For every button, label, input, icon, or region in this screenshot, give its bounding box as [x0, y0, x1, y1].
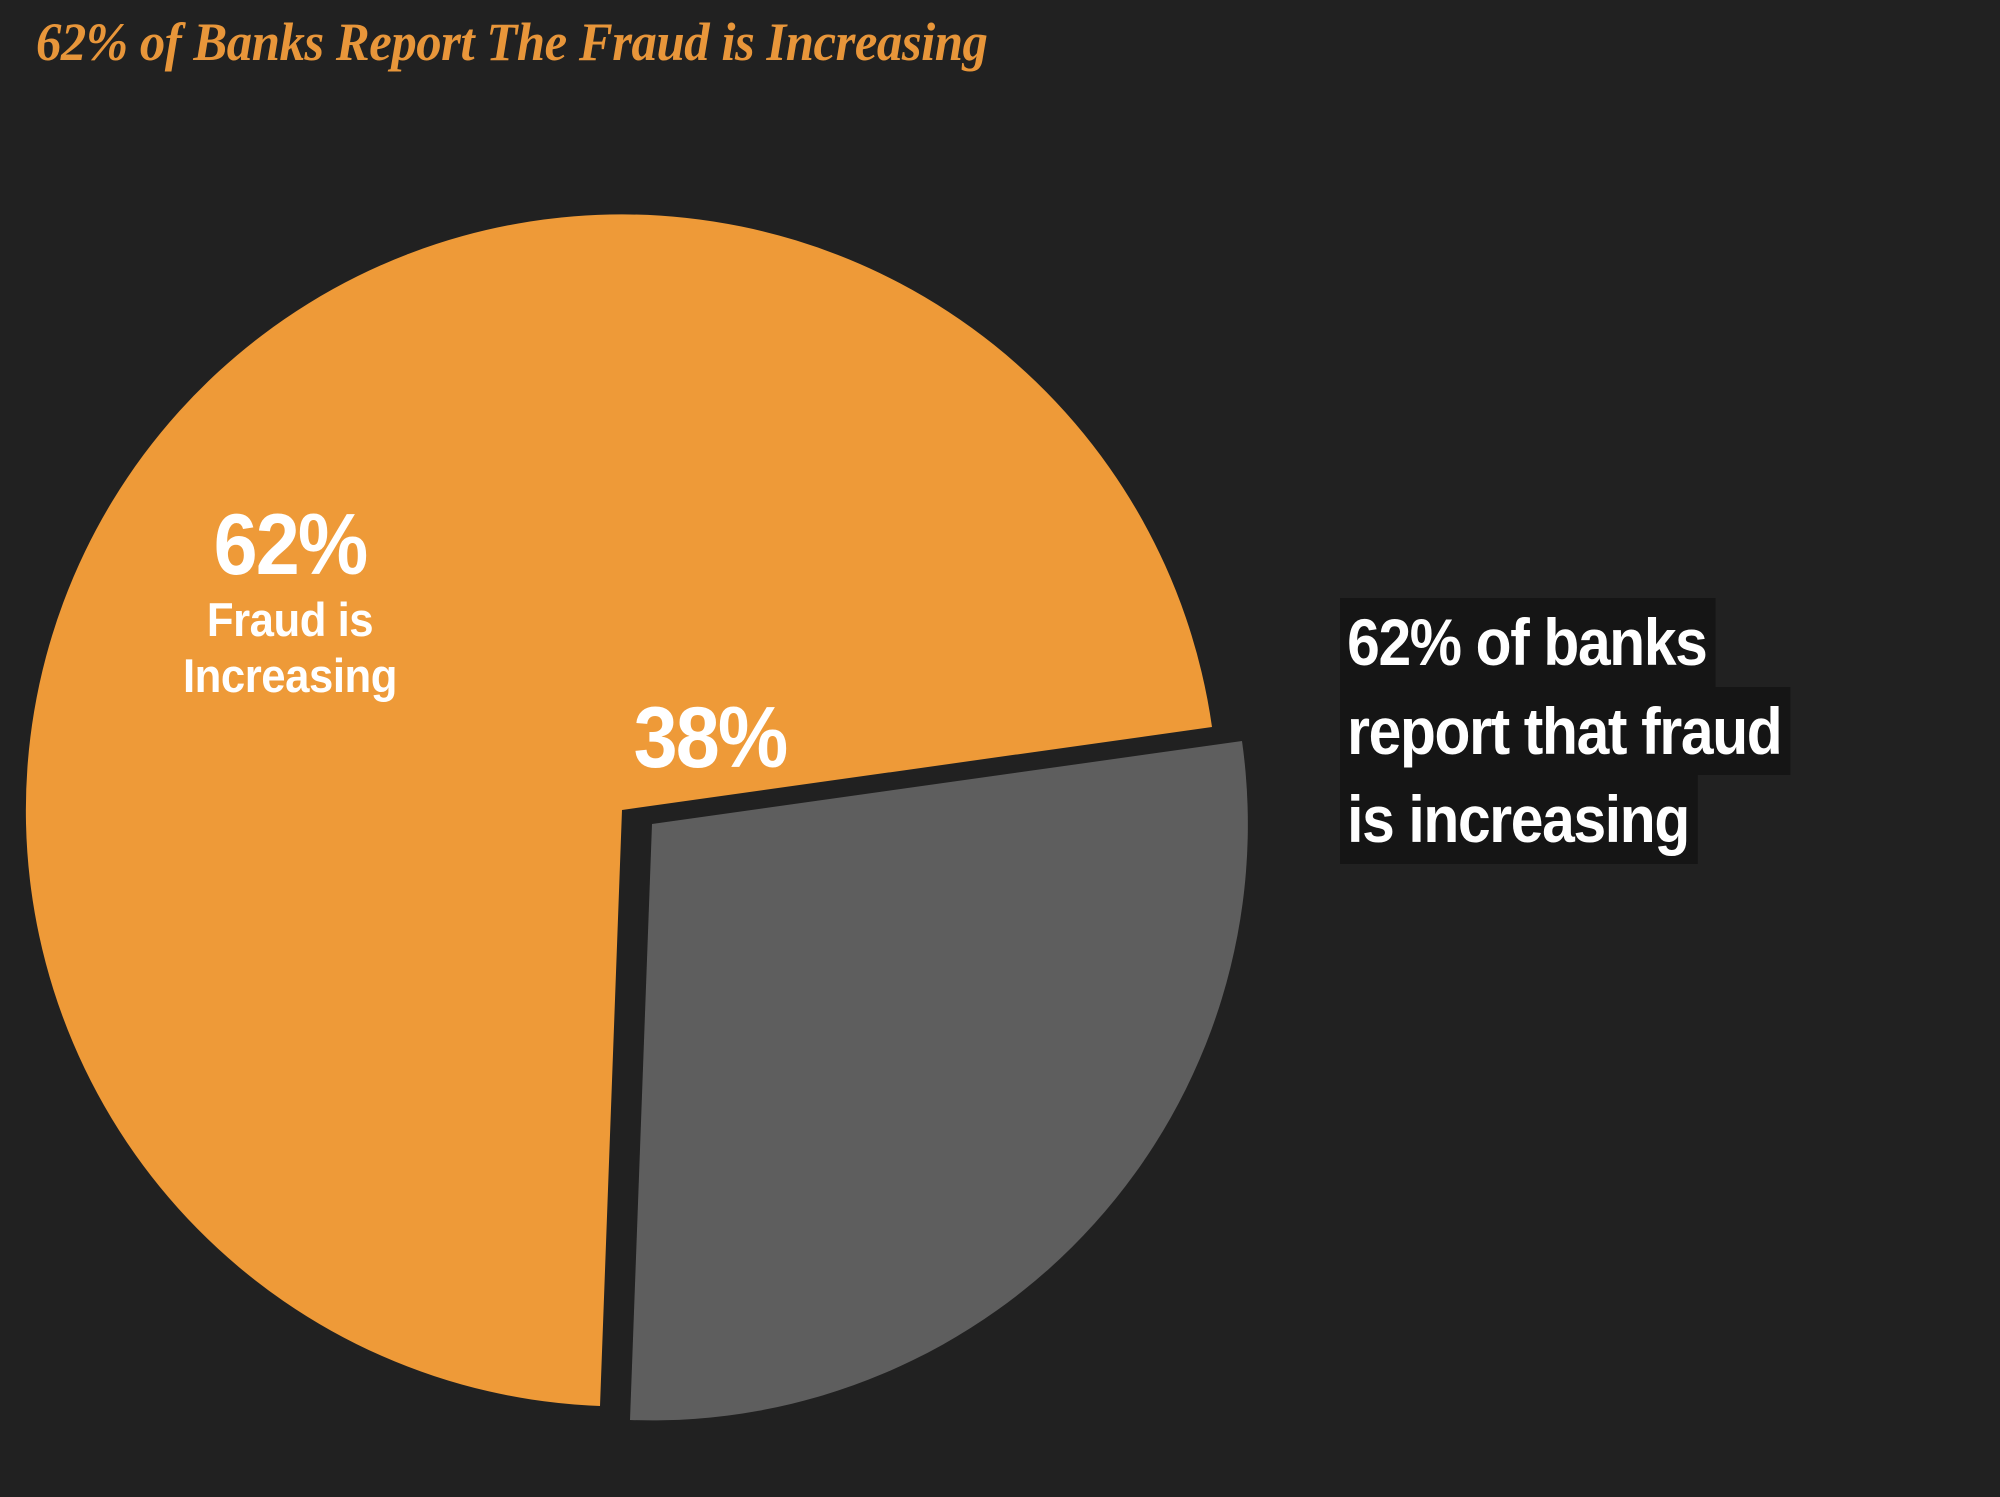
slice-label-percent: 38% [558, 695, 862, 783]
slice-label-fraud-increasing: 62% Fraud is Increasing [100, 502, 480, 703]
slice-label-other: 38% [545, 695, 875, 783]
slide-canvas: 62% of Banks Report The Fraud is Increas… [0, 0, 2000, 1497]
callout-line: 62% of banks [1340, 598, 1715, 687]
slice-label-percent: 62% [115, 502, 465, 590]
pie-slice-other[interactable] [630, 741, 1248, 1420]
callout-line: report that fraud [1340, 687, 1790, 776]
callout-line: is increasing [1340, 775, 1698, 864]
slice-label-sub-line1: Fraud is [113, 594, 466, 647]
slice-label-sub-line2: Increasing [113, 650, 466, 703]
callout-text-block: 62% of banks report that fraud is increa… [1340, 598, 1980, 864]
